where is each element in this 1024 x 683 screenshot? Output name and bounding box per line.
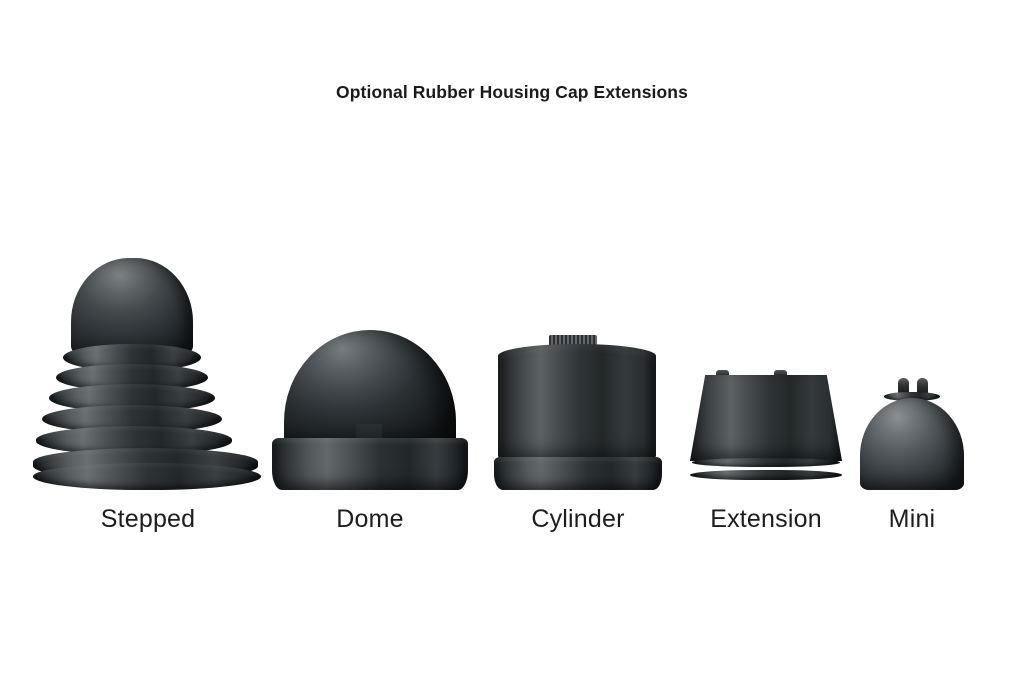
product-extension: Extension — [690, 368, 842, 562]
mini-bell-body — [860, 398, 964, 490]
product-comparison-image: Optional Rubber Housing Cap Extensions S… — [0, 0, 1024, 683]
page-title: Optional Rubber Housing Cap Extensions — [0, 82, 1024, 103]
dome-cap-illustration — [272, 330, 468, 490]
product-stepped: Stepped — [33, 262, 263, 562]
stepped-ring-7 — [33, 463, 261, 490]
extension-cone-body — [690, 375, 842, 461]
caption-dome: Dome — [272, 505, 468, 534]
product-dome: Dome — [272, 332, 468, 562]
cylinder-flange-base — [494, 457, 662, 490]
caption-mini: Mini — [838, 505, 986, 534]
cylinder-body — [498, 344, 656, 460]
dome-flange-base — [272, 438, 468, 490]
extension-cap-illustration — [690, 370, 842, 490]
extension-flange-ring-upper — [692, 458, 840, 467]
product-mini: Mini — [860, 375, 964, 562]
cylinder-cap-illustration — [494, 335, 662, 490]
caption-extension: Extension — [672, 505, 860, 534]
stepped-dome-top — [71, 258, 193, 356]
caption-stepped: Stepped — [28, 505, 268, 534]
extension-flange-ring-lower — [690, 470, 842, 480]
caption-cylinder: Cylinder — [482, 505, 674, 534]
stepped-cap-illustration — [33, 258, 263, 490]
product-cylinder: Cylinder — [494, 332, 662, 562]
mini-cap-illustration — [860, 378, 964, 490]
